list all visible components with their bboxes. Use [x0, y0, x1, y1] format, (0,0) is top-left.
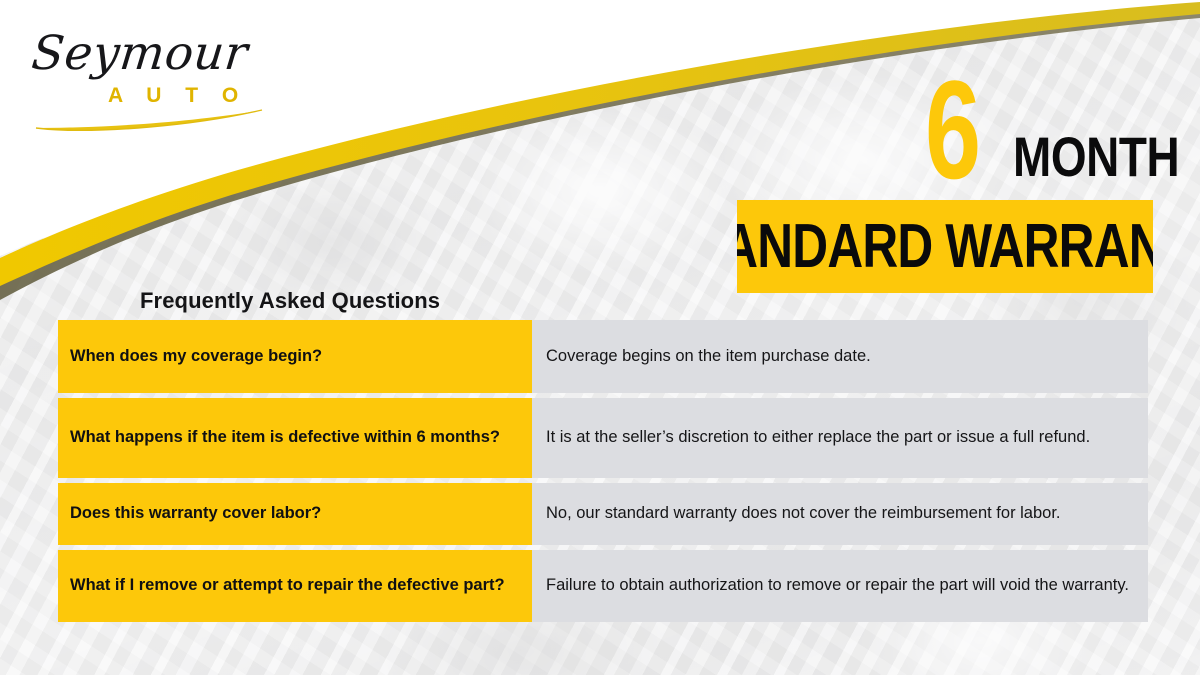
faq-answer-cell: It is at the seller’s discretion to eith…	[528, 398, 1148, 478]
faq-question-cell: What happens if the item is defective wi…	[58, 398, 528, 478]
warranty-title: STANDARD WARRANTY	[737, 216, 1153, 278]
faq-answer-cell: No, our standard warranty does not cover…	[528, 483, 1148, 545]
faq-answer-cell: Failure to obtain authorization to remov…	[528, 550, 1148, 622]
faq-question-cell: Does this warranty cover labor?	[58, 483, 528, 545]
faq-question-cell: When does my coverage begin?	[58, 320, 528, 393]
duration-number: 6	[925, 60, 980, 200]
faq-question-cell: What if I remove or attempt to repair th…	[58, 550, 528, 622]
faq-answer-cell: Coverage begins on the item purchase dat…	[528, 320, 1148, 393]
warranty-slide: Seymour A U T O 6 MONTH STANDARD WARRANT…	[0, 0, 1200, 675]
duration-unit: MONTH	[1013, 129, 1179, 185]
logo-underline-swoosh	[34, 104, 266, 132]
table-row: What if I remove or attempt to repair th…	[58, 550, 1148, 622]
table-row: What happens if the item is defective wi…	[58, 398, 1148, 478]
logo-script-name: Seymour	[29, 26, 250, 81]
warranty-title-bar: STANDARD WARRANTY	[737, 200, 1153, 293]
faq-table: When does my coverage begin? Coverage be…	[58, 320, 1148, 622]
table-row: When does my coverage begin? Coverage be…	[58, 320, 1148, 393]
faq-heading: Frequently Asked Questions	[140, 288, 440, 314]
seymour-auto-logo[interactable]: Seymour A U T O	[24, 22, 284, 132]
duration-headline: 6 MONTH	[915, 80, 1165, 192]
table-row: Does this warranty cover labor? No, our …	[58, 483, 1148, 545]
